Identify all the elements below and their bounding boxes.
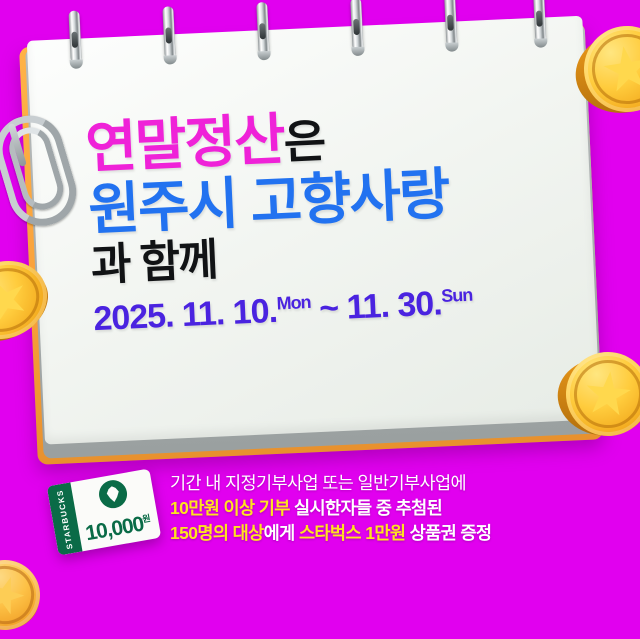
promo-text-block: 기간 내 지정기부사업 또는 일반기부사업에 10만원 이상 기부 실시한자들 … xyxy=(170,471,622,546)
promo-line-1: 기간 내 지정기부사업 또는 일반기부사업에 xyxy=(170,471,622,496)
gift-card-amount: 10,000원 xyxy=(80,511,157,547)
spiral-ring-icon xyxy=(347,0,366,52)
gift-card-currency: 원 xyxy=(141,513,150,524)
headline-block: 연말정산은 원주시 고향사랑 과 함께 2025. 11. 10.Mon ~ 1… xyxy=(84,99,563,336)
promo-line-3-mid: 에게 xyxy=(264,523,299,543)
starbucks-gift-card: STARBUCKS 10,000원 xyxy=(47,469,162,556)
starbucks-siren-icon xyxy=(97,478,129,510)
promo-banner: 연말정산은 원주시 고향사랑 과 함께 2025. 11. 10.Mon ~ 1… xyxy=(0,0,640,639)
promo-line-2-rest: 실시한자들 중 추첨된 xyxy=(290,498,442,518)
promo-line-3: 150명의 대상에게 스타벅스 1만원 상품권 증정 xyxy=(170,521,622,546)
spiral-ring-icon xyxy=(441,0,460,48)
spiral-ring-icon xyxy=(65,10,84,65)
gift-card-amount-value: 10,000 xyxy=(84,513,145,546)
promo-block: STARBUCKS 10,000원 기간 내 지정기부사업 또는 일반기부사업에… xyxy=(0,459,640,639)
spiral-ring-icon xyxy=(530,0,549,44)
date-end: 11. 30. xyxy=(346,284,443,326)
headline-yearend-settlement: 연말정산 xyxy=(84,107,285,179)
date-separator: ~ xyxy=(318,289,339,328)
headline-particle-eun: 은 xyxy=(283,115,326,169)
promo-line-2: 10만원 이상 기부 실시한자들 중 추첨된 xyxy=(170,496,622,521)
gift-card-brand-strip: STARBUCKS xyxy=(47,482,83,555)
date-end-weekday: Sun xyxy=(441,285,473,306)
date-start-weekday: Mon xyxy=(276,292,311,314)
spiral-ring-icon xyxy=(159,6,178,61)
notepad: 연말정산은 원주시 고향사랑 과 함께 2025. 11. 10.Mon ~ 1… xyxy=(27,16,605,461)
spiral-ring-icon xyxy=(253,2,272,57)
promo-line-2-highlight: 10만원 이상 기부 xyxy=(170,498,290,518)
gift-card-brand-text: STARBUCKS xyxy=(55,488,74,549)
promo-line-3-highlight-count: 150명의 대상 xyxy=(170,523,264,543)
promo-line-3-rest: 상품권 증정 xyxy=(405,523,491,543)
promo-line-3-highlight-brand: 스타벅스 1만원 xyxy=(299,523,405,543)
